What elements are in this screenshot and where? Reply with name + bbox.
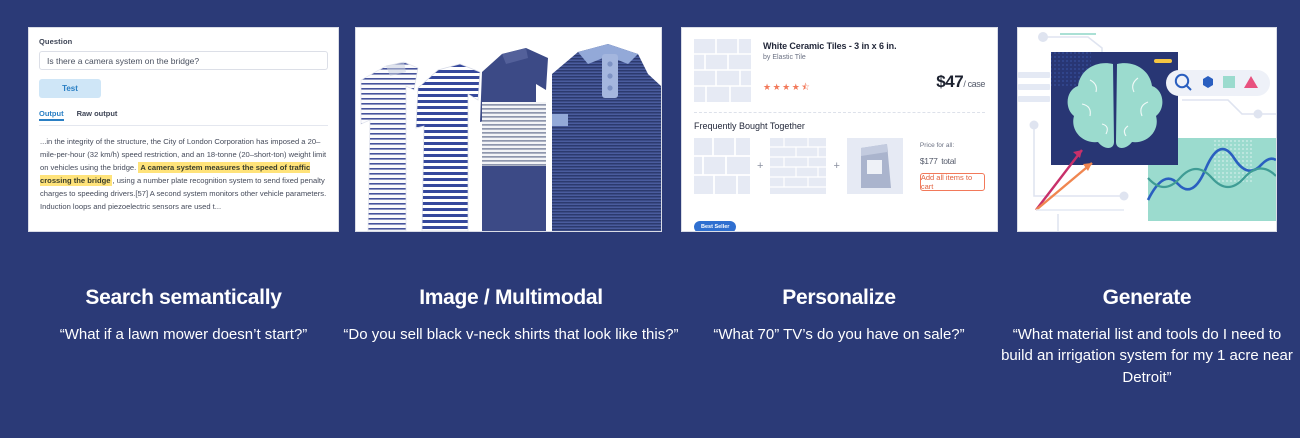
best-seller-badge: Best Seller (694, 221, 736, 232)
total-price-value: $177 (920, 156, 938, 166)
square-icon (1223, 76, 1235, 88)
shirts-illustration (356, 28, 661, 231)
product-header: White Ceramic Tiles - 3 in x 6 in. by El… (682, 28, 997, 102)
column-caption-personalize: Personalize “What 70” TV’s do you have o… (676, 286, 1002, 345)
rating-stars: ★★★★⯪ (763, 83, 811, 92)
shirt-4 (552, 44, 661, 231)
product-price: $47/ case (936, 72, 985, 92)
price-for-all-label: Price for all: (920, 142, 985, 149)
semantic-search-card: Question Is there a camera system on the… (28, 27, 339, 232)
price-value: $47 (936, 72, 963, 91)
column-caption-search: Search semantically “What if a lawn mowe… (6, 286, 361, 345)
tab-raw-output[interactable]: Raw output (77, 109, 118, 121)
column-quote: “What material list and tools do I need … (1000, 324, 1294, 388)
tile-pattern-small-icon (770, 138, 826, 194)
test-button[interactable]: Test (39, 79, 101, 98)
fbt-item-3[interactable] (847, 138, 903, 194)
column-caption-generate: Generate “What material list and tools d… (1000, 286, 1294, 388)
column-heading: Image / Multimodal (342, 286, 680, 310)
brain-panel (1051, 52, 1178, 165)
menu-lines-icon (1018, 72, 1050, 102)
shirt-3 (480, 48, 548, 231)
fbt-row: + + (682, 131, 997, 194)
fbt-item-2[interactable] (770, 138, 826, 194)
ai-brain-illustration (1018, 28, 1276, 231)
multimodal-image-card (355, 27, 662, 232)
question-input[interactable]: Is there a camera system on the bridge? (39, 51, 328, 70)
add-all-to-cart-button[interactable]: Add all items to cart (920, 173, 985, 191)
shirt-1 (361, 62, 418, 231)
column-heading: Generate (1000, 286, 1294, 310)
price-unit: / case (963, 79, 985, 89)
fbt-summary: Price for all: $177 total Add all items … (920, 142, 985, 191)
tile-pattern-large-icon (694, 138, 750, 194)
product-title: White Ceramic Tiles - 3 in x 6 in. (763, 41, 985, 51)
column-heading: Search semantically (6, 286, 361, 310)
personalize-product-card: White Ceramic Tiles - 3 in x 6 in. by El… (681, 27, 998, 232)
column-quote: “Do you sell black v-neck shirts that lo… (342, 324, 680, 345)
fbt-heading: Frequently Bought Together (682, 113, 997, 131)
column-caption-image: Image / Multimodal “Do you sell black v-… (342, 286, 680, 345)
column-heading: Personalize (676, 286, 1002, 310)
tab-output[interactable]: Output (39, 109, 64, 121)
question-label: Question (39, 37, 328, 46)
column-quote: “What if a lawn mower doesn’t start?” (6, 324, 361, 345)
total-suffix: total (941, 156, 956, 166)
generate-illustration-card (1017, 27, 1277, 232)
shirt-2 (416, 64, 480, 231)
output-text: ...in the integrity of the structure, th… (29, 126, 338, 213)
output-tabs: Output Raw output (39, 109, 328, 126)
column-quote: “What 70” TV’s do you have on sale?” (676, 324, 1002, 345)
plus-sign-2: + (833, 160, 839, 172)
fbt-item-1[interactable] (694, 138, 750, 194)
promo-banner: Question Is there a camera system on the… (0, 0, 1300, 438)
search-pill (1166, 70, 1270, 96)
product-info: White Ceramic Tiles - 3 in x 6 in. by El… (763, 39, 985, 102)
total-price: $177 total (920, 151, 985, 167)
tile-box-icon (847, 138, 903, 194)
generate-graphic (1018, 28, 1276, 231)
plus-sign-1: + (757, 160, 763, 172)
subway-tile-icon (694, 39, 751, 102)
shirt-photo-group (356, 28, 661, 231)
product-brand: by Elastic Tile (763, 54, 985, 61)
product-thumbnail[interactable] (694, 39, 751, 102)
yellow-marker (1154, 59, 1172, 63)
rating-price-row: ★★★★⯪ $47/ case (763, 72, 985, 92)
question-block: Question Is there a camera system on the… (29, 28, 338, 126)
